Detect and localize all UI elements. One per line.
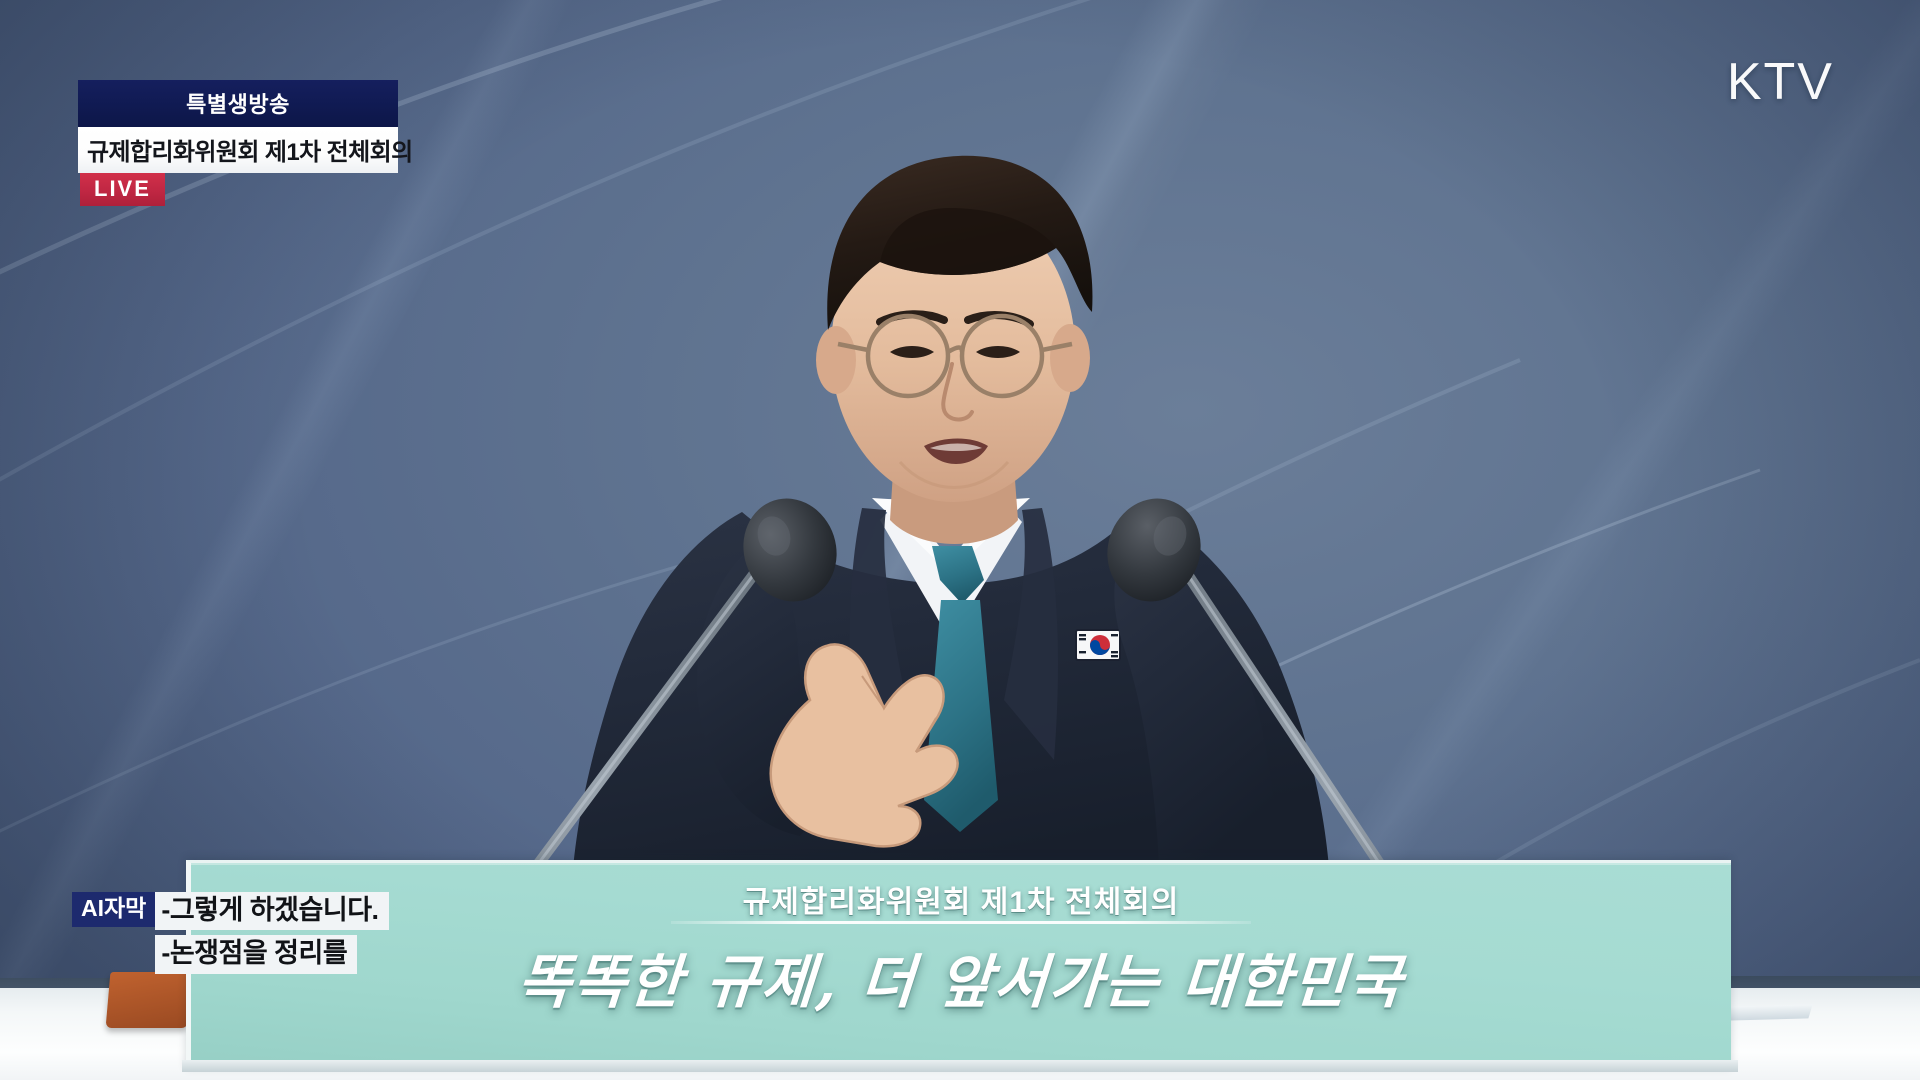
broadcast-banner: 특별생방송 규제합리화위원회 제1차 전체회의 LIVE: [78, 80, 398, 206]
podium-panel: 규제합리화위원회 제1차 전체회의 똑똑한 규제, 더 앞서가는 대한민국: [186, 860, 1731, 1070]
ai-caption-lines: -그렇게 하겠습니다. -논쟁점을 정리를: [155, 892, 388, 974]
channel-logo-ktv: KTV: [1727, 52, 1834, 112]
ai-caption-line-1: -그렇게 하겠습니다.: [155, 892, 388, 930]
podium-slogan-container: 똑똑한 규제, 더 앞서가는 대한민국: [191, 935, 1731, 1019]
podium-divider-line: [671, 921, 1251, 924]
broadcast-screen: 규제합리화위원회 제1차 전체회의 똑똑한 규제, 더 앞서가는 대한민국 AI…: [0, 0, 1920, 1080]
ai-caption-badge: AI자막: [72, 892, 155, 927]
korean-flag-lapel-pin: [1076, 630, 1120, 660]
podium-title: 규제합리화위원회 제1차 전체회의: [743, 877, 1180, 921]
wooden-object: [106, 972, 193, 1028]
podium-slogan: 똑똑한 규제, 더 앞서가는 대한민국: [515, 935, 1407, 1019]
ai-caption-line-2: -논쟁점을 정리를: [155, 935, 357, 973]
program-type-label: 특별생방송: [78, 80, 398, 127]
live-badge: LIVE: [80, 173, 165, 206]
event-title-label: 규제합리화위원회 제1차 전체회의: [78, 127, 398, 173]
podium-title-container: 규제합리화위원회 제1차 전체회의: [191, 877, 1731, 921]
ai-caption-overlay: AI자막 -그렇게 하겠습니다. -논쟁점을 정리를: [72, 892, 389, 974]
podium-base-edge: [182, 1060, 1738, 1072]
